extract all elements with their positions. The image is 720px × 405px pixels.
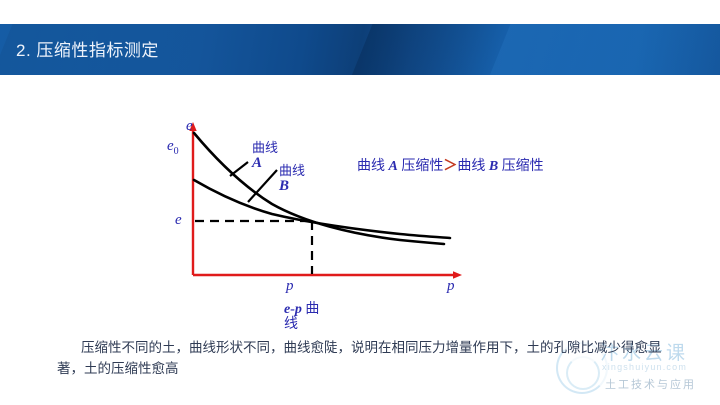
curve-b-letter: B <box>279 178 289 194</box>
comparison-curve-a: A <box>389 159 398 174</box>
comparison-suffix-prefix: 曲线 <box>457 159 489 174</box>
x-value-label: p <box>286 278 294 295</box>
greater-than-icon: ＞ <box>443 159 457 174</box>
curve-b-name: 曲线 <box>279 163 305 178</box>
e0-base: e <box>167 138 174 154</box>
comparison-curve-b: B <box>489 159 498 174</box>
curve-a-name: 曲线 <box>252 140 278 155</box>
initial-void-ratio-label: e0 <box>167 138 179 157</box>
y-axis-label: e <box>186 118 193 135</box>
curve-a-label: 曲线 A <box>252 140 278 171</box>
comparison-suffix: 压缩性 <box>498 159 544 174</box>
x-axis-label: p <box>447 278 455 295</box>
curve-a-path <box>194 133 444 244</box>
curve-a-letter: A <box>252 155 262 171</box>
page-title: 2. 压缩性指标测定 <box>16 40 346 61</box>
leader-line-curve-a <box>230 162 248 176</box>
curve-b-path <box>194 180 450 238</box>
x-axis <box>193 271 462 278</box>
figure-caption: e-p 曲线 <box>284 302 332 332</box>
e0-subscript: 0 <box>174 146 179 157</box>
comparison-middle: 压缩性 <box>398 159 444 174</box>
y-axis <box>189 122 196 275</box>
curve-b-label: 曲线 B <box>279 163 305 194</box>
body-paragraph: 压缩性不同的土，曲线形状不同，曲线愈陡，说明在相同压力增量作用下，土的孔隙比减少… <box>57 337 677 379</box>
leader-line-curve-b <box>248 170 277 202</box>
caption-variable: e-p <box>284 302 302 317</box>
y-value-label: e <box>175 212 182 229</box>
banner-diagonal-light <box>480 24 720 75</box>
comparison-prefix: 曲线 <box>357 159 389 174</box>
comparison-statement: 曲线 A 压缩性＞曲线 B 压缩性 <box>357 155 544 175</box>
